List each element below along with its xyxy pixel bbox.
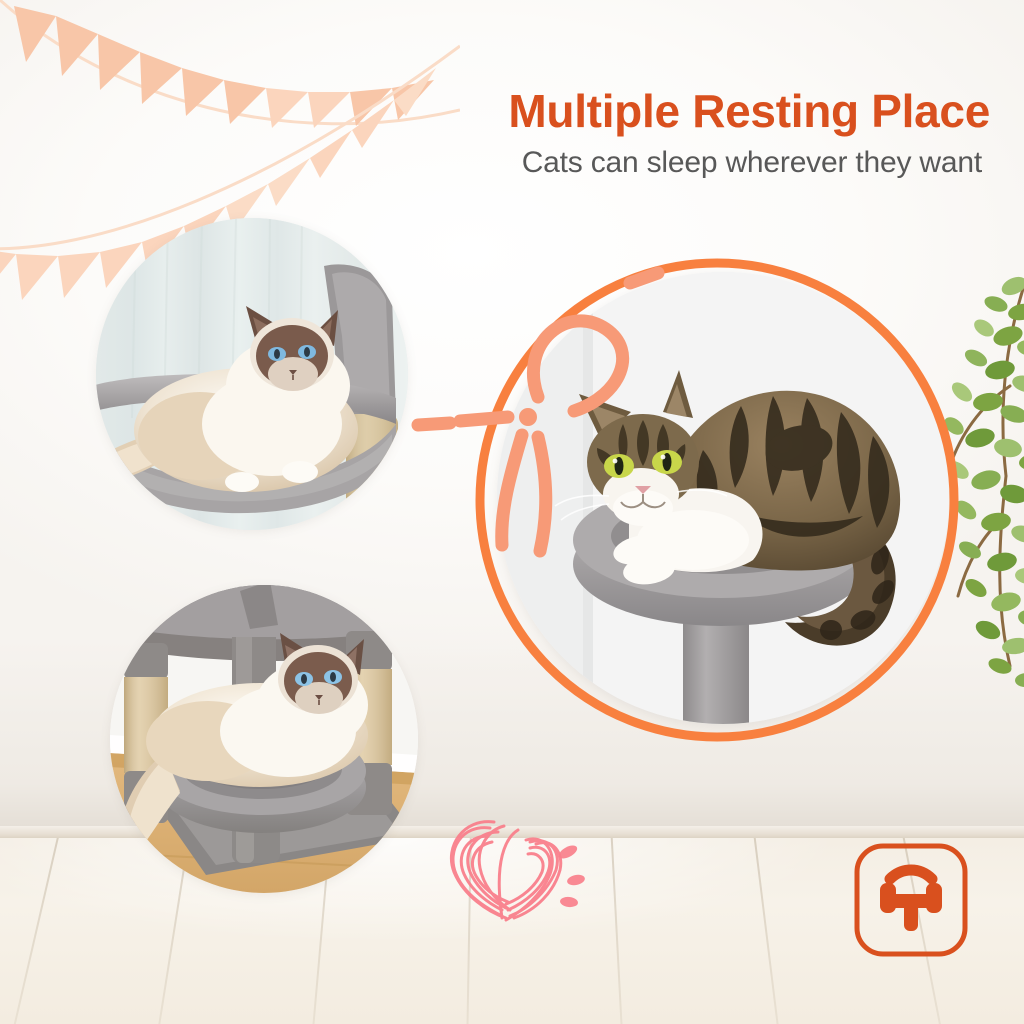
hammock-scene [96,218,408,530]
infographic-canvas: Multiple Resting Place Cats can sleep wh… [0,0,1024,1024]
cat-perch-feature-icon [852,841,970,959]
photo-cat-in-hammock [96,218,408,530]
cat-head [226,306,350,434]
top-perch-scene [497,272,949,724]
page-title: Multiple Resting Place [0,84,990,138]
page-subtitle: Cats can sleep wherever they want [0,146,982,180]
cat-perch-icon [880,870,942,931]
photo-cat-in-bowl-perch [110,585,418,893]
photo-tabby-on-top-perch [497,272,949,724]
bowl-perch-scene [110,585,418,893]
